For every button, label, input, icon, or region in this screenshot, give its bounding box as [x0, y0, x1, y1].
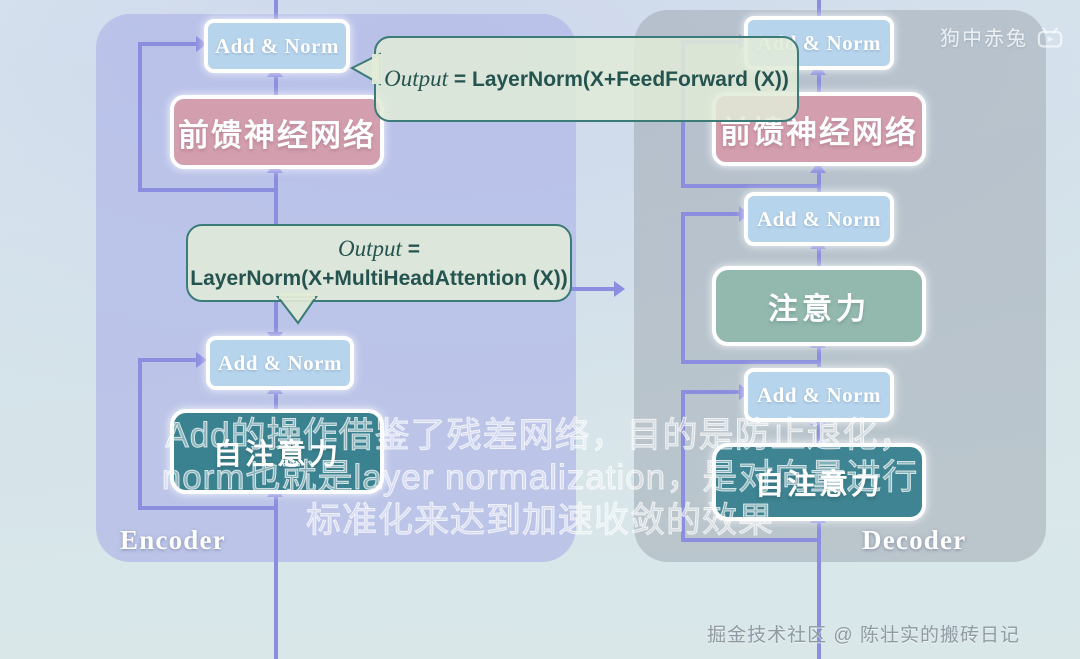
encoder-add-norm-top[interactable]: Add & Norm: [204, 19, 350, 73]
encoder-spine-ffn-in: [274, 170, 278, 225]
decoder-spine-an2-attn: [817, 246, 821, 266]
callout-attention-formula: Output = LayerNorm(X+MultiHeadAttention …: [186, 224, 572, 302]
encoder-self-attention-label: 自注意力: [213, 431, 341, 473]
callout-attention-tail-icon: [276, 297, 318, 325]
encoder-add-norm-bottom[interactable]: Add & Norm: [206, 336, 354, 390]
decoder-label: Decoder: [862, 525, 966, 556]
decoder-residual-2-bottom: [681, 360, 819, 364]
decoder-attention-label: 注意力: [768, 284, 870, 328]
encoder-spine-bottom: [274, 494, 278, 659]
decoder-residual-3-vertical: [681, 390, 685, 542]
encoder-self-attention[interactable]: 自注意力: [170, 409, 384, 494]
callout-feedforward-text: Output = LayerNorm(X+FeedForward (X)): [384, 63, 789, 94]
callout-attention-output-word: Output: [338, 236, 402, 261]
callout-attention-line2: LayerNorm(X+MultiHeadAttention (X)): [190, 265, 567, 293]
bilibili-logo-icon: [1036, 25, 1064, 49]
decoder-attention[interactable]: 注意力: [712, 266, 926, 346]
encoder-add-norm-bottom-label: Add & Norm: [218, 351, 342, 376]
encoder-label: Encoder: [120, 525, 226, 556]
encoder-to-decoder-line: [566, 287, 618, 291]
decoder-residual-1-bottom: [681, 184, 819, 188]
encoder-residual-2-bottom: [138, 506, 276, 510]
watermark-bottom: 掘金技术社区 @ 陈壮实的搬砖日记: [707, 620, 1020, 647]
callout-attention-text: Output = LayerNorm(X+MultiHeadAttention …: [190, 233, 567, 293]
callout-feedforward-formula: Output = LayerNorm(X+FeedForward (X)): [374, 36, 799, 122]
callout-attention-line1: Output =: [190, 233, 567, 264]
encoder-residual-1-vertical: [138, 42, 142, 192]
decoder-residual-2-vertical: [681, 212, 685, 364]
watermark-top-right-text: 狗中赤兔: [940, 22, 1028, 51]
encoder-feed-forward[interactable]: 前馈神经网络: [170, 95, 384, 169]
decoder-spine-ffn-in: [817, 170, 821, 192]
encoder-add-norm-top-label: Add & Norm: [215, 34, 339, 59]
callout-feedforward-body: = LayerNorm(X+FeedForward (X)): [448, 68, 789, 91]
encoder-to-decoder-arrow: [614, 281, 625, 297]
diagram-canvas: Add & Norm 前馈神经网络 Add & Norm 自注意力 Add & …: [0, 0, 1080, 659]
callout-feedforward-output-word: Output: [384, 66, 448, 91]
decoder-residual-3-bottom: [681, 538, 819, 542]
decoder-residual-2-top: [681, 212, 743, 216]
encoder-feed-forward-label: 前馈神经网络: [178, 110, 376, 155]
decoder-add-norm-mid[interactable]: Add & Norm: [744, 192, 894, 246]
decoder-add-norm-bottom[interactable]: Add & Norm: [744, 368, 894, 422]
decoder-self-attention[interactable]: 自注意力: [712, 443, 926, 521]
callout-feedforward-tail-icon: [350, 52, 380, 86]
decoder-spine-an3-sa: [817, 422, 821, 444]
encoder-residual-1-bottom: [138, 188, 276, 192]
encoder-residual-2-vertical: [138, 358, 142, 510]
decoder-add-norm-bottom-label: Add & Norm: [757, 383, 881, 408]
callout-attention-eq-sign: =: [402, 238, 420, 261]
encoder-residual-2-top: [138, 358, 200, 362]
decoder-residual-3-top: [681, 390, 743, 394]
watermark-top-right: 狗中赤兔: [940, 22, 1064, 51]
decoder-self-attention-label: 自注意力: [755, 461, 883, 503]
decoder-add-norm-mid-label: Add & Norm: [757, 207, 881, 232]
encoder-residual-1-top: [138, 42, 200, 46]
